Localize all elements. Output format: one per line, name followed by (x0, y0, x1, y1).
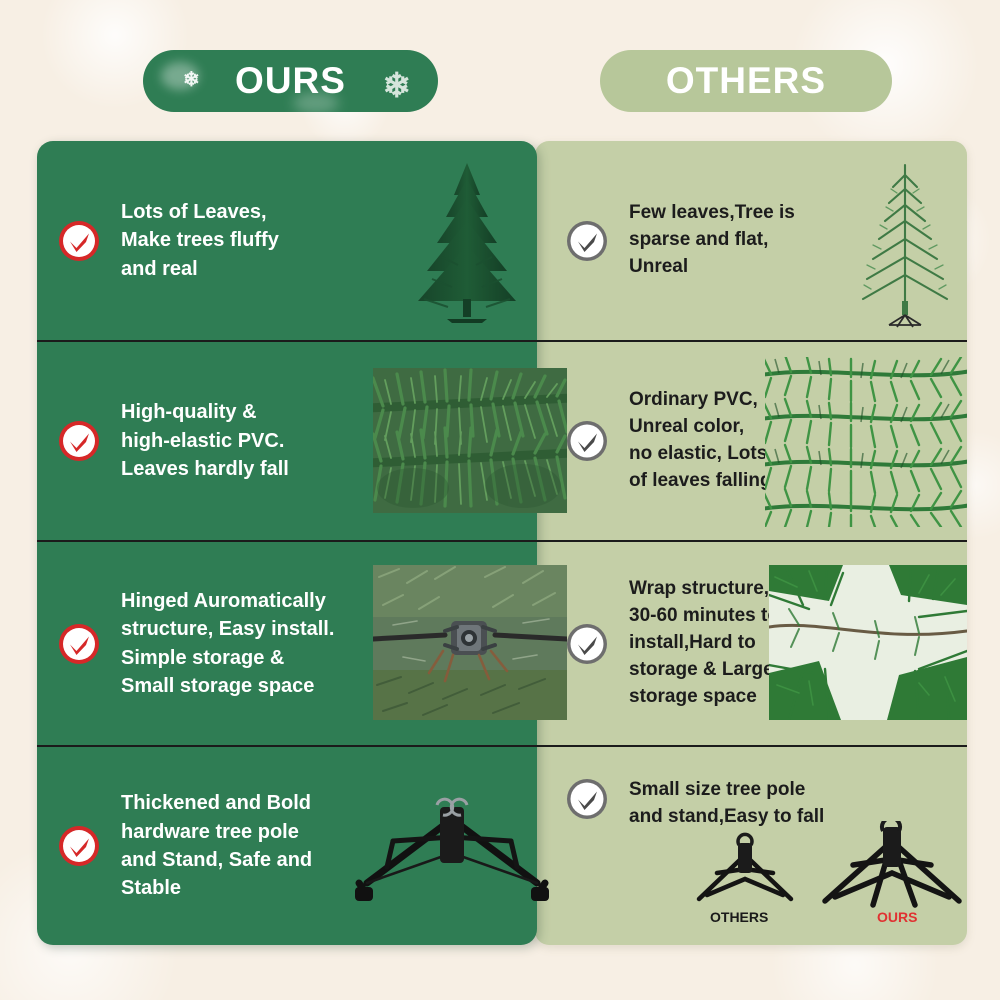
others-badge-label: OTHERS (666, 60, 826, 102)
flat-sparse-pvc-branch-closeup-image (765, 357, 967, 527)
stand-label-ours: OURS (877, 909, 917, 925)
feature-text: Thickened and Bold hardware tree pole an… (121, 789, 312, 903)
red-check-circle-icon (57, 419, 101, 463)
feature-text: Wrap structure, 30-60 minutes to install… (629, 576, 779, 711)
row-divider (537, 745, 967, 747)
sparse-thin-christmas-tree-image (853, 159, 957, 331)
row-divider (37, 540, 537, 542)
feature-text: Hinged Auromatically structure, Easy ins… (121, 587, 334, 701)
feature-text: Ordinary PVC, Unreal color, no elastic, … (629, 387, 772, 495)
feature-text: Lots of Leaves, Make trees fluffy and re… (121, 198, 279, 283)
gray-check-circle-icon (565, 219, 609, 263)
red-check-circle-icon (57, 824, 101, 868)
ours-badge: ❄ OURS ❄ (143, 50, 438, 112)
snowflake-icon: ❄ (183, 67, 201, 92)
header-badges: ❄ OURS ❄ OTHERS (0, 50, 1000, 112)
row-divider (537, 340, 967, 342)
feature-text: High-quality & high-elastic PVC. Leaves … (121, 398, 289, 483)
stand-label-others: OTHERS (710, 909, 768, 925)
gray-check-circle-icon (565, 622, 609, 666)
row-divider (537, 540, 967, 542)
wrapped-branch-closeup-image (769, 565, 967, 720)
red-check-circle-icon (57, 219, 101, 263)
others-badge: OTHERS (600, 50, 892, 112)
comparison-table: Lots of Leaves, Make trees fluffy and re… (37, 141, 967, 945)
ours-badge-label: OURS (235, 60, 346, 102)
full-dense-christmas-tree-image (402, 161, 532, 326)
gray-check-circle-icon (565, 777, 609, 821)
row-divider (37, 340, 537, 342)
snowflake-icon: ❄ (383, 66, 413, 106)
red-check-circle-icon (57, 622, 101, 666)
row-divider (37, 745, 537, 747)
feature-text: Few leaves,Tree is sparse and flat, Unre… (629, 200, 795, 281)
gray-check-circle-icon (565, 419, 609, 463)
heavy-duty-metal-tree-stand-image (337, 791, 567, 911)
